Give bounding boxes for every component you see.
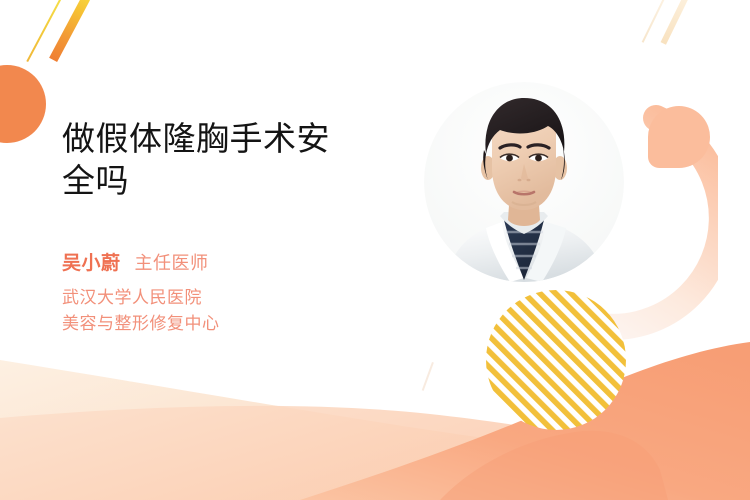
doctor-portrait-image bbox=[424, 82, 624, 282]
page-title: 做假体隆胸手术安 全吗 bbox=[62, 118, 412, 202]
striped-circle-decor bbox=[486, 290, 626, 430]
diagonal-stroke-thin-icon bbox=[26, 0, 63, 62]
ring-cap-blob bbox=[648, 106, 710, 168]
doctor-info-card: 做假体隆胸手术安 全吗 吴小蔚 主任医师 武汉大学人民医院 美容与整形修复中心 bbox=[0, 0, 750, 500]
diagonal-stroke-faint-b-icon bbox=[642, 0, 670, 43]
doctor-credit-row: 吴小蔚 主任医师 bbox=[62, 248, 412, 275]
doctor-avatar bbox=[424, 82, 624, 282]
doctor-name: 吴小蔚 bbox=[62, 248, 121, 275]
diagonal-stroke-thick-icon bbox=[49, 0, 90, 62]
doctor-title: 主任医师 bbox=[135, 249, 209, 275]
orange-circle-decor bbox=[0, 65, 46, 143]
portrait-cluster bbox=[418, 78, 718, 368]
doctor-affiliation: 武汉大学人民医院 美容与整形修复中心 bbox=[62, 285, 412, 337]
diagonal-stroke-faint-a-icon bbox=[661, 0, 692, 45]
text-block: 做假体隆胸手术安 全吗 吴小蔚 主任医师 武汉大学人民医院 美容与整形修复中心 bbox=[62, 118, 412, 337]
